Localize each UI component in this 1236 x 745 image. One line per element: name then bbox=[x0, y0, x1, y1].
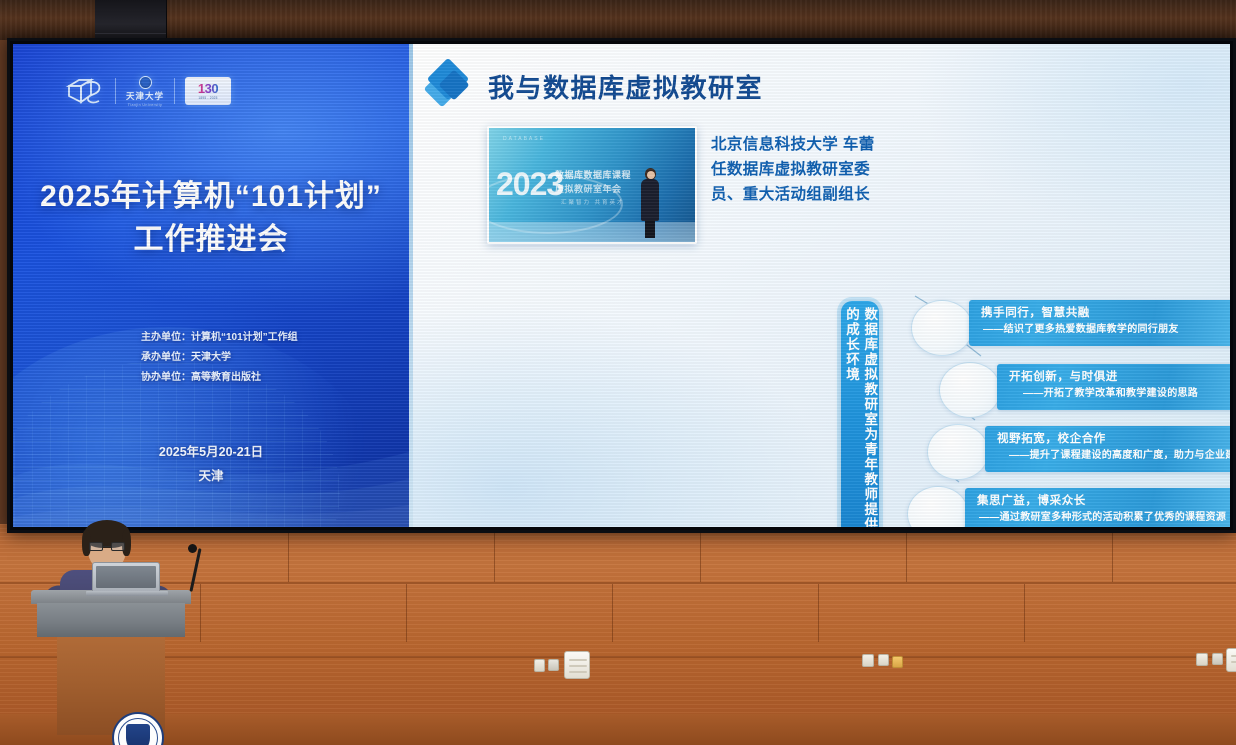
laptop[interactable] bbox=[86, 562, 168, 596]
bullet-1-heading: 携手同行，智慧共融 bbox=[969, 305, 1230, 322]
logo-divider bbox=[174, 78, 175, 104]
wall-fixture-group-left bbox=[534, 647, 614, 681]
bullet-2-sub: ——开拓了教学改革和教学建设的思路 bbox=[997, 386, 1230, 401]
photo-person-figure bbox=[639, 168, 661, 238]
logo-row: 天津大学 Tianjin University 130 1895 - 2025 bbox=[65, 74, 231, 108]
organizer-item: 主办单位：计算机“101计划”工作组 bbox=[141, 328, 298, 348]
wall-outlet[interactable] bbox=[892, 656, 903, 668]
logo-divider bbox=[115, 78, 116, 104]
bullet-item-1: 携手同行，智慧共融 ——结识了更多热爱数据库教学的同行朋友 bbox=[969, 300, 1230, 346]
chain-circle bbox=[911, 300, 973, 356]
university-crest-icon bbox=[112, 712, 164, 745]
wall-panel-seam bbox=[406, 584, 407, 642]
conference-date-block: 2025年5月20-21日 天津 bbox=[13, 441, 409, 489]
anniversary-years: 1895 - 2025 bbox=[198, 96, 217, 100]
control-panel[interactable] bbox=[1226, 648, 1236, 672]
tju-seal-icon bbox=[139, 76, 152, 89]
organizer-item: 承办单位：天津大学 bbox=[141, 348, 298, 368]
podium-front-face bbox=[37, 603, 185, 637]
laptop-screen[interactable] bbox=[96, 566, 156, 589]
bullet-4-heading: 集思广益，博采众长 bbox=[965, 493, 1230, 510]
wall-switch[interactable] bbox=[878, 654, 889, 666]
wall-fixture-group-middle bbox=[862, 650, 922, 674]
microphone-stem bbox=[189, 548, 201, 592]
bullet-item-4: 集思广益，博采众长 ——通过教研室多种形式的活动积累了优秀的课程资源 bbox=[965, 488, 1230, 527]
wall-outlet[interactable] bbox=[1212, 653, 1223, 665]
wall-switch[interactable] bbox=[534, 659, 545, 672]
event-photo: DATABASE 2023 数据库数据库课程 虚拟教研室年会 汇聚智力 共育英才 bbox=[487, 126, 697, 244]
presenter-glasses bbox=[89, 542, 125, 551]
conference-title-line2: 工作推进会 bbox=[13, 219, 409, 262]
wall-switch[interactable] bbox=[862, 654, 874, 667]
control-panel[interactable] bbox=[564, 651, 590, 679]
anniversary-number: 130 bbox=[198, 82, 218, 95]
presenter-role-line1: 任数据库虚拟教研室委 bbox=[711, 157, 931, 182]
podium bbox=[31, 590, 191, 745]
wall-panel-seam bbox=[818, 584, 819, 642]
scene-root: 天津大学 Tianjin University 130 1895 - 2025 … bbox=[0, 0, 1236, 745]
wall-panel-seam bbox=[1024, 584, 1025, 642]
led-display-wall: 天津大学 Tianjin University 130 1895 - 2025 … bbox=[7, 38, 1236, 533]
vertical-label-wrap: 数据库虚拟教研室为青年教师提供的成长环境 bbox=[821, 292, 901, 527]
chain-circle bbox=[939, 362, 1001, 418]
wall-panel-seam bbox=[612, 584, 613, 642]
cube-logo-icon bbox=[65, 74, 105, 108]
organizer-list: 主办单位：计算机“101计划”工作组 承办单位：天津大学 协办单位：高等教育出版… bbox=[141, 328, 298, 388]
bullet-3-sub: ——提升了课程建设的高度和广度，助力与企业建立产学研合作 bbox=[985, 448, 1230, 463]
tianjin-university-logo: 天津大学 Tianjin University bbox=[126, 76, 164, 107]
laptop-lid bbox=[92, 562, 160, 592]
conference-title: 2025年计算机“101计划” 工作推进会 bbox=[13, 176, 409, 261]
slide-title-row: 我与数据库虚拟教研室 bbox=[427, 62, 763, 110]
anniversary-logo: 130 1895 - 2025 bbox=[185, 77, 231, 105]
conference-title-panel: 天津大学 Tianjin University 130 1895 - 2025 … bbox=[13, 44, 409, 527]
chain-circle bbox=[927, 424, 989, 480]
organizer-item: 协办单位：高等教育出版社 bbox=[141, 368, 298, 388]
podium-column bbox=[57, 637, 165, 735]
photo-banner-line2: 虚拟教研室年会 bbox=[555, 182, 622, 195]
conference-city: 天津 bbox=[13, 465, 409, 489]
tju-name-cn: 天津大学 bbox=[126, 90, 164, 102]
photo-banner-line3: 汇聚智力 共育英才 bbox=[561, 198, 625, 206]
photo-stage-floor bbox=[489, 222, 695, 242]
presenter-info-block: 北京信息科技大学 车蕾 任数据库虚拟教研室委 员、重大活动组副组长 bbox=[711, 132, 931, 207]
presenter-affiliation: 北京信息科技大学 车蕾 bbox=[711, 132, 931, 157]
conference-date: 2025年5月20-21日 bbox=[13, 441, 409, 465]
laptop-base bbox=[86, 591, 168, 596]
diamond-decoration-icon bbox=[427, 62, 475, 110]
photo-banner-line1: 数据库数据库课程 bbox=[555, 168, 631, 181]
bullet-item-2: 开拓创新，与时俱进 ——开拓了教学改革和教学建设的思路 bbox=[997, 364, 1230, 410]
microphone[interactable] bbox=[168, 548, 204, 594]
wall-outlet[interactable] bbox=[548, 659, 559, 671]
bullet-chain: 携手同行，智慧共融 ——结识了更多热爱数据库教学的同行朋友 开拓创新，与时俱进 … bbox=[901, 294, 1230, 527]
slide-left-accent-bar bbox=[409, 44, 413, 527]
bullet-1-sub: ——结识了更多热爱数据库教学的同行朋友 bbox=[969, 322, 1230, 337]
wall-switch[interactable] bbox=[1196, 653, 1208, 666]
display-content: 天津大学 Tianjin University 130 1895 - 2025 … bbox=[13, 44, 1230, 527]
wall-fixture-group-right bbox=[1196, 648, 1236, 674]
conference-title-line1: 2025年计算机“101计划” bbox=[13, 176, 409, 219]
microphone-head bbox=[188, 544, 197, 553]
photo-brand-text: DATABASE bbox=[503, 136, 545, 142]
photo-year-text: 2023 bbox=[496, 168, 563, 200]
bullet-4-sub: ——通过教研室多种形式的活动积累了优秀的课程资源 bbox=[965, 510, 1230, 525]
crest-ring bbox=[118, 718, 158, 745]
bullet-3-heading: 视野拓宽，校企合作 bbox=[985, 431, 1230, 448]
vertical-theme-label: 数据库虚拟教研室为青年教师提供的成长环境 bbox=[841, 301, 879, 527]
presentation-slide: 我与数据库虚拟教研室 DATABASE 2023 数据库数据库课程 虚拟教研室年… bbox=[409, 44, 1230, 527]
bullet-item-3: 视野拓宽，校企合作 ——提升了课程建设的高度和广度，助力与企业建立产学研合作 bbox=[985, 426, 1230, 472]
slide-title: 我与数据库虚拟教研室 bbox=[488, 68, 763, 105]
bullet-2-heading: 开拓创新，与时俱进 bbox=[997, 369, 1230, 386]
tju-name-en: Tianjin University bbox=[128, 103, 162, 107]
wall-grain-texture bbox=[0, 0, 1236, 40]
upper-wall bbox=[0, 0, 1236, 40]
presenter-role-line2: 员、重大活动组副组长 bbox=[711, 182, 931, 207]
